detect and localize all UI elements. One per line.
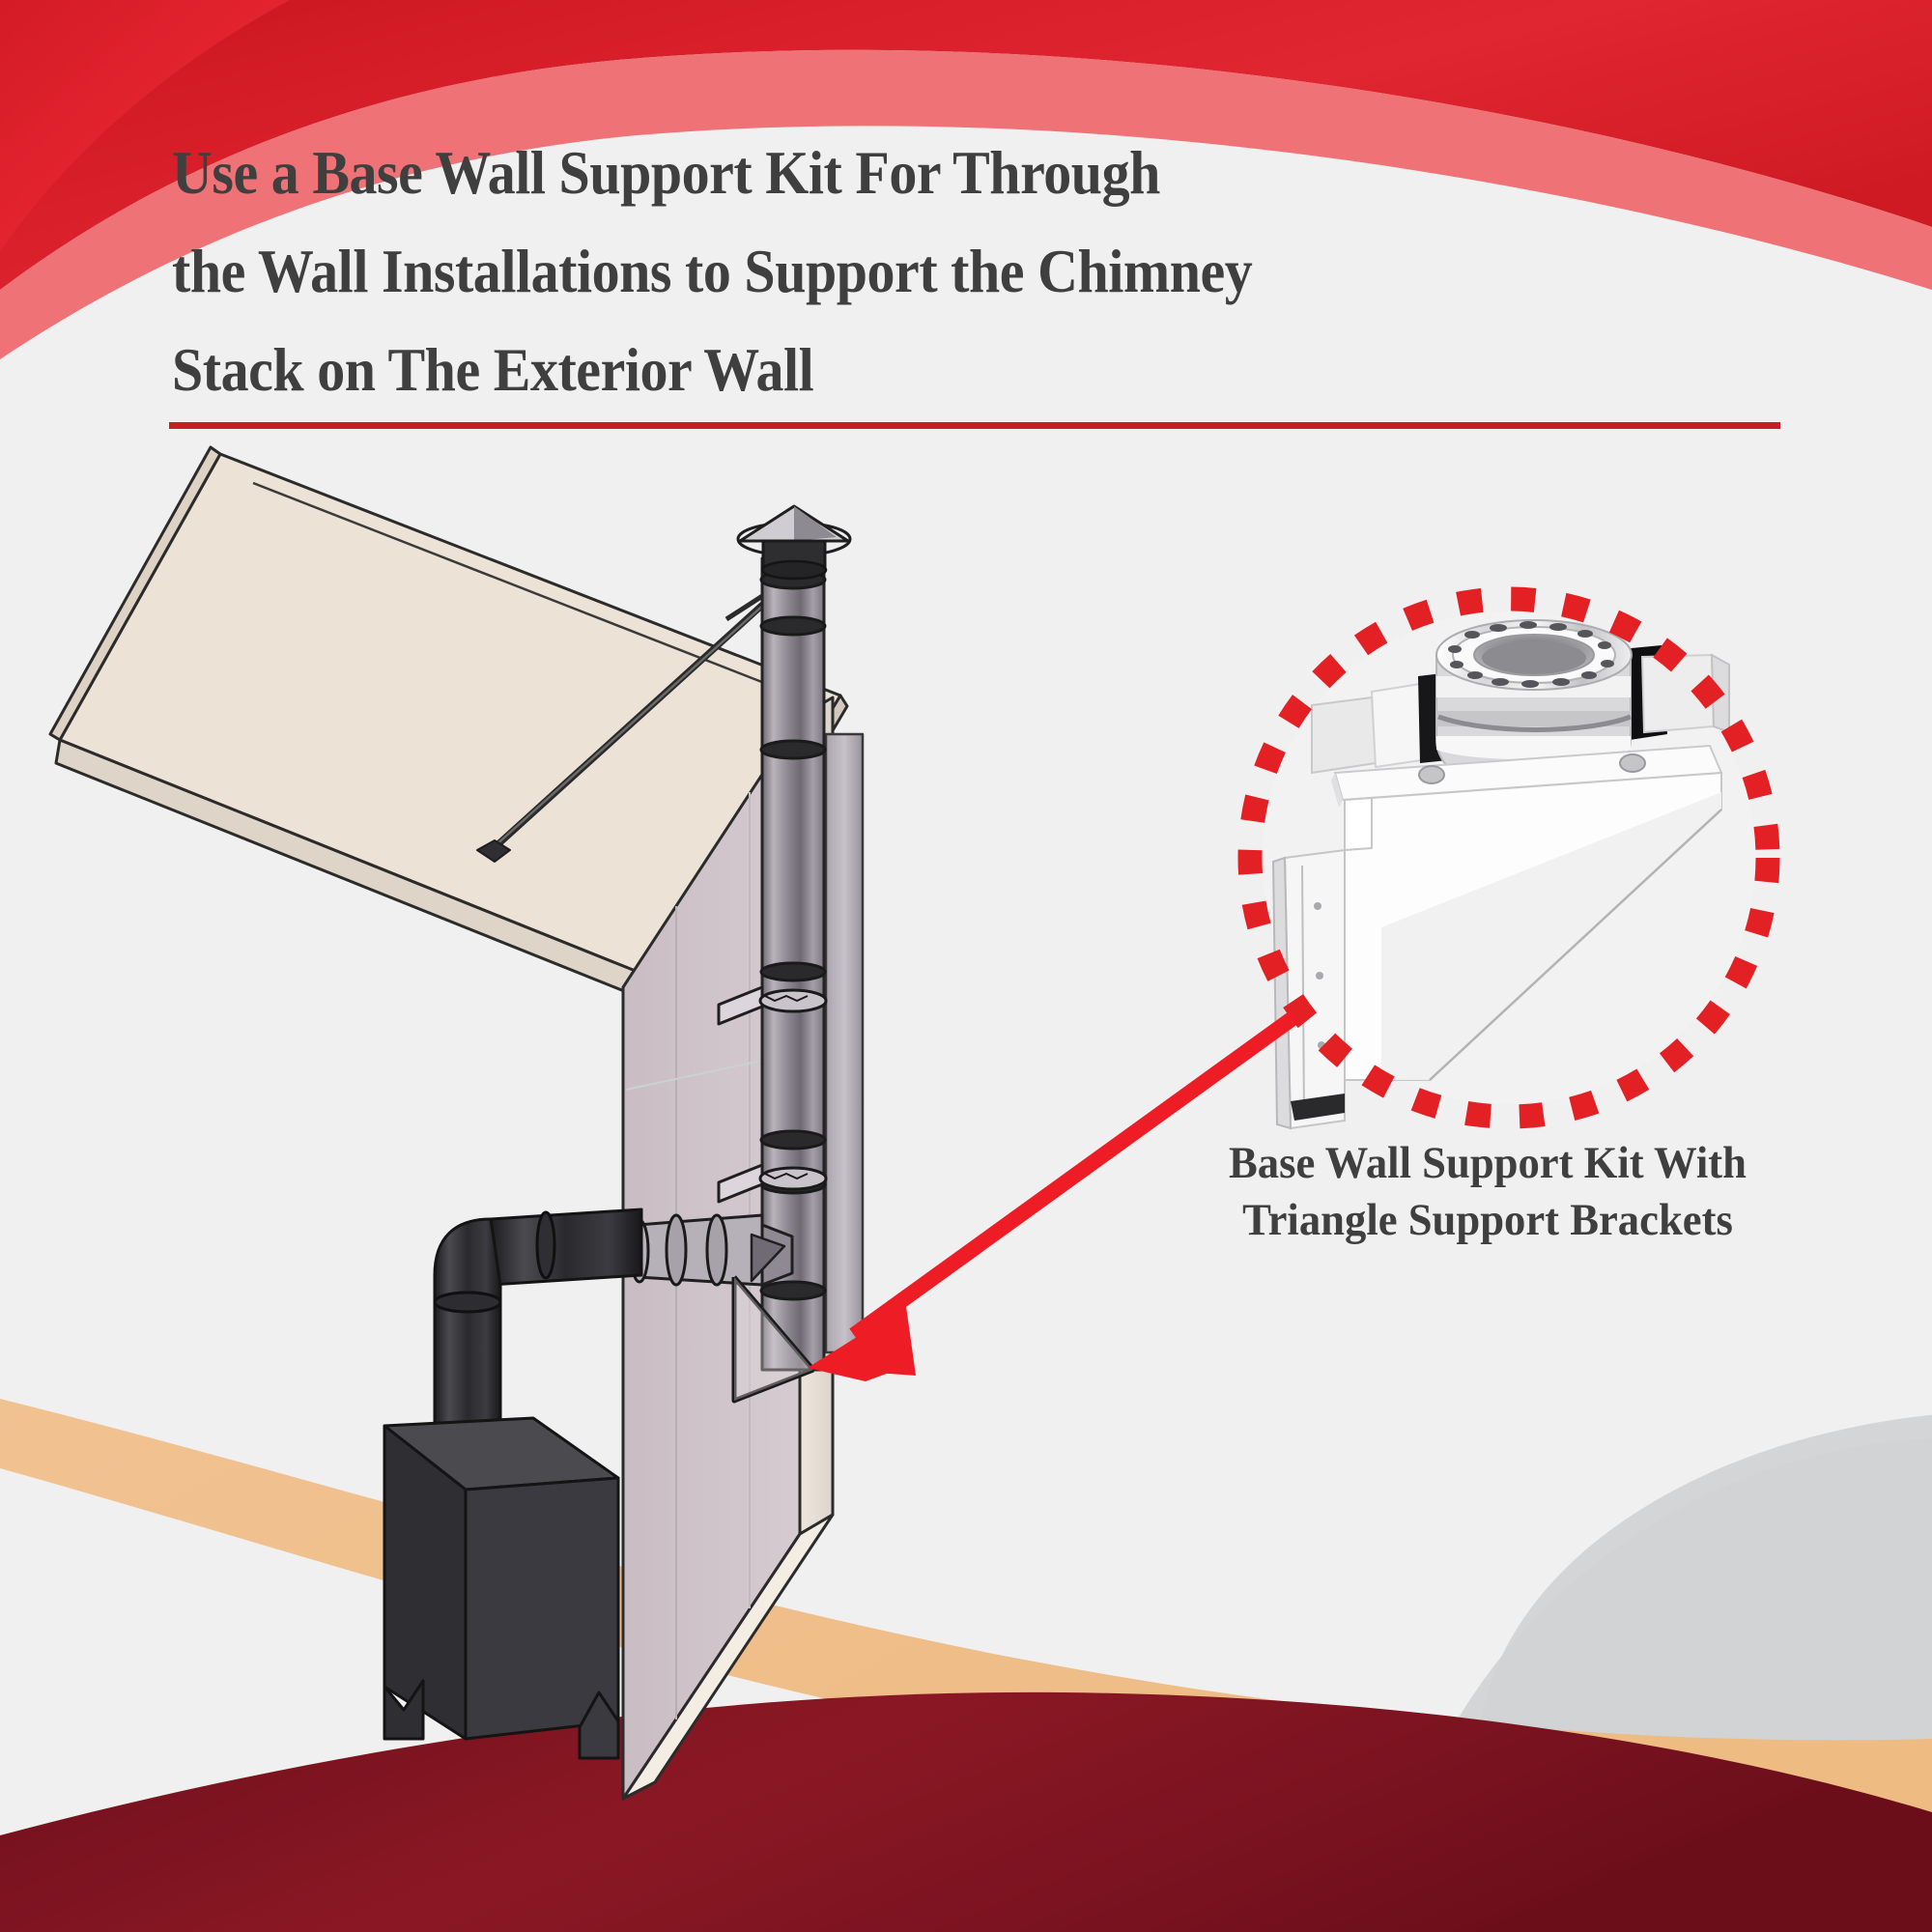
infographic-canvas: Use a Base Wall Support Kit For Through …: [0, 0, 1932, 1932]
caption-line-1: Base Wall Support Kit With: [1157, 1135, 1818, 1192]
wall-mount-plate: [1285, 850, 1345, 1128]
caption-line-2: Triangle Support Brackets: [1157, 1192, 1818, 1249]
bracket-rear-flange: [1312, 697, 1376, 773]
callout-caption: Base Wall Support Kit With Triangle Supp…: [1140, 1135, 1835, 1249]
callout-group: [0, 0, 1932, 1932]
